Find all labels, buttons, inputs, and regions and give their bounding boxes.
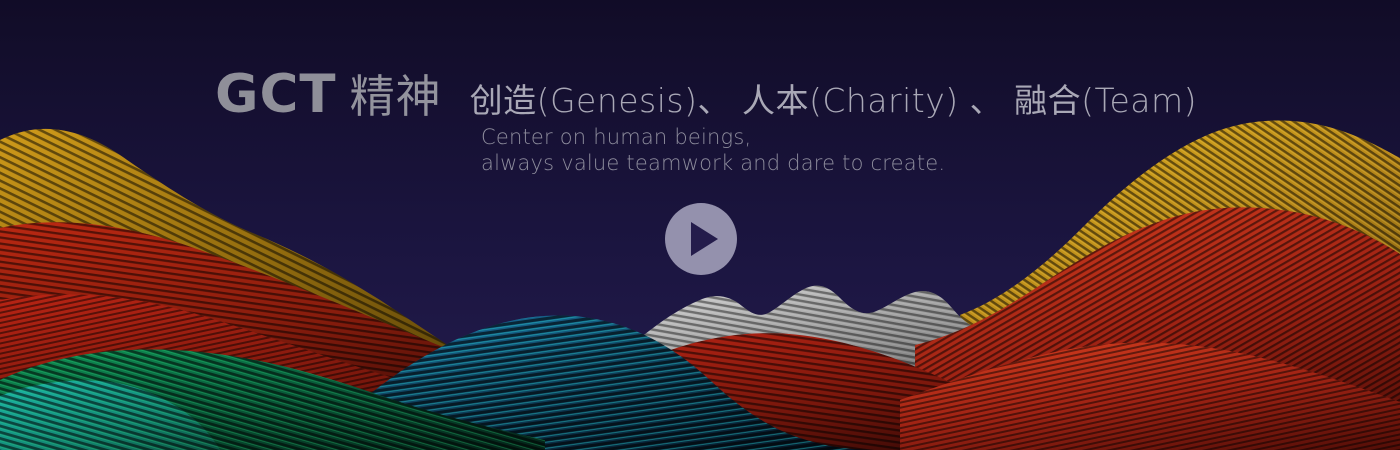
play-video-button[interactable] <box>665 203 737 275</box>
play-icon <box>691 222 718 256</box>
hero-banner: GCT 精神 创造(Genesis)、 人本(Charity) 、 融合(Tea… <box>0 0 1400 450</box>
